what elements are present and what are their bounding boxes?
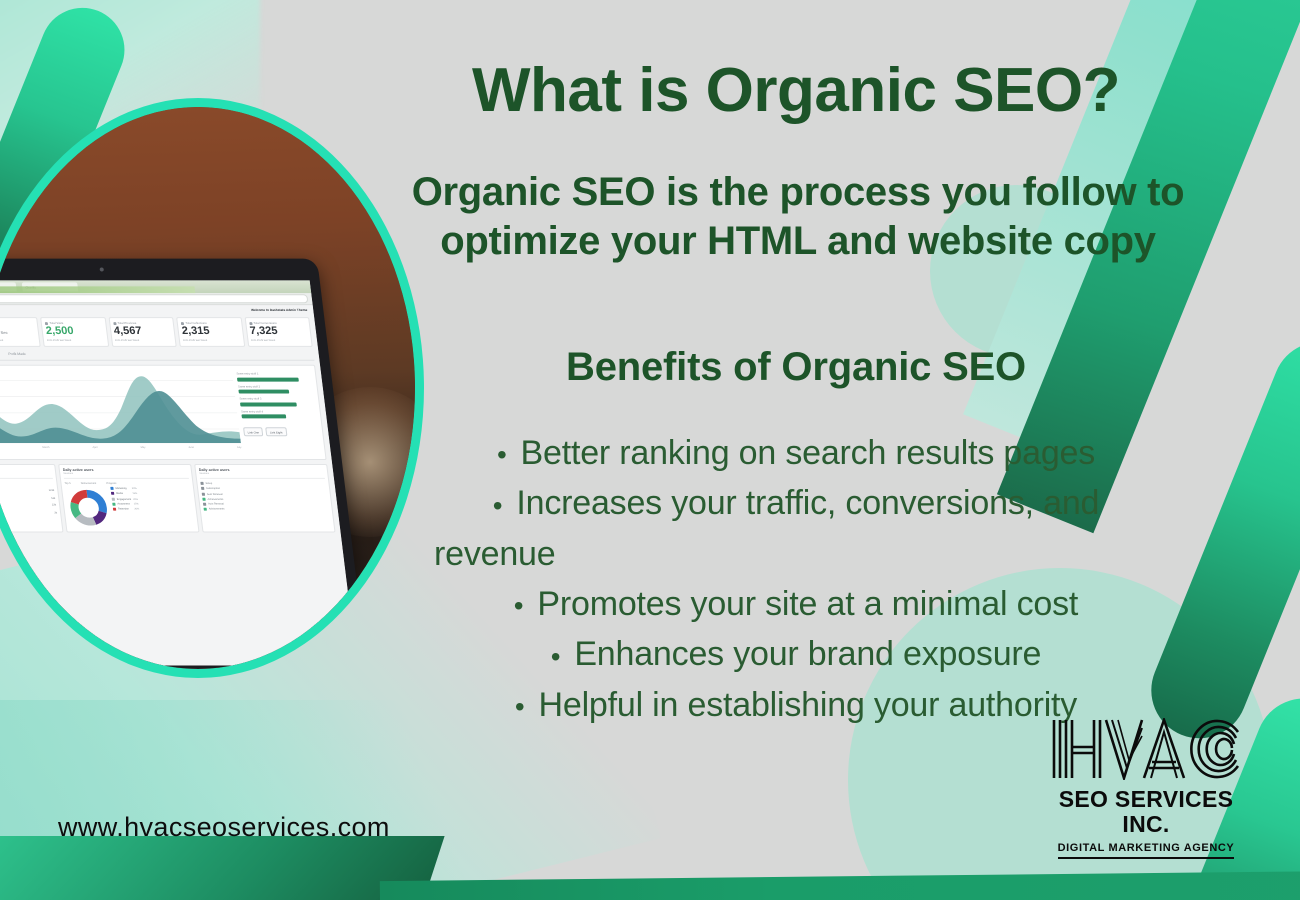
brand-logo[interactable]: SEO SERVICES INC. DIGITAL MARKETING AGEN… [1048,718,1244,859]
usage-value: 123k [41,489,54,492]
list-item: •Increases your traffic, conversions, an… [372,478,1220,528]
bullet-icon: • [493,490,503,521]
list-item-label: Helpful in establishing your authority [539,686,1078,724]
chart-link-buttons: Link One Link Eight [243,427,319,436]
donut-legend-row: Retention 20% [113,508,140,511]
kpi-card: Total Visits 2,500 10% Profit last Week [40,317,109,346]
kpi-card: Total Collections 2,315 10% Profit last … [176,317,245,346]
legend-label: Awareness [117,502,130,505]
legend-label: Marketing [115,487,126,490]
kpi-value: 7,325 [249,326,307,337]
chart-plot-area [0,370,241,445]
daily-active-users-card: Daily active users Sessions App Usage ac… [0,464,64,532]
donut-chart-wrap: Marketing 30% Media 15% [65,487,195,529]
laptop: Marketing Dashboard Marketing Dashboard … [0,259,368,669]
legend-label: Some entry stuff 1 [236,373,311,376]
x-tick: July [237,446,243,455]
divider [200,478,325,479]
legend-percent: 15% [132,492,137,495]
usage-bar-track [0,510,42,515]
achievement-icon [202,497,205,500]
legend-swatch [111,492,114,495]
page-subtitle: Organic SEO is the process you follow to… [380,168,1216,266]
bullet-icon: • [551,641,561,672]
list-item-label: Increases your traffic, conversions, and [516,484,1099,522]
kpi-card: Total Previews 4,567 10% Profit last Wee… [108,317,177,346]
app-usage-title: App Usage across versions [0,482,54,486]
area-chart-card: 100 90 80 70 60 50 40 30 20 10 [0,365,327,460]
x-tick: May [140,446,146,455]
kpi-sub: 10% Profit last Week [251,339,308,342]
legend-row: Some entry stuff 3 [239,398,315,406]
section-heading-benefits: Benefits of Organic SEO [372,345,1220,390]
account-menu-item[interactable]: Auto Renewal [203,503,328,506]
bullet-icon: • [514,590,524,621]
kpi-card: Average Time 1.51Sec 10% Profit last Wee… [0,317,41,346]
kpi-row: Total Users 2500 10% Profit last Week Av… [0,317,313,346]
usage-value: 3k [44,511,57,514]
legend-swatch [112,497,115,500]
kpi-sub: 10% Profit last Week [115,339,172,342]
logo-company-name: SEO SERVICES INC. [1048,787,1244,838]
browser-url-field[interactable] [0,294,308,303]
dashboard-welcome-text: Welcome to Dashstats Admin Theme [251,308,308,312]
dashboard-tab-profit-made[interactable]: Profit Made [8,351,26,358]
list-item: •Better ranking on search results pages [372,428,1220,478]
kpi-unit: Sec [0,330,8,335]
chart-legend: Some entry stuff 1 Some entry stuff 2 So… [236,370,321,455]
laptop-photo-inner: Marketing Dashboard Marketing Dashboard … [0,107,415,669]
kpi-label-wrap: Average Time [0,321,34,325]
card-subtitle: Sessions [199,472,324,475]
menu-label: Setup [205,482,212,485]
account-menu-item[interactable]: Achievements [204,508,329,511]
legend-progress-bar [241,415,286,419]
usage-row: 9.1.0.0 123k [0,488,55,493]
daily-active-users-card: Daily active users Sessions Setup [194,464,335,532]
legend-label: Retention [118,508,129,511]
legend-row: Some entry stuff 1 [236,373,312,381]
browser-tab-highlight [0,286,195,293]
legend-progress-bar [240,402,297,406]
account-menu-item[interactable]: Auto Renewal [202,492,327,495]
donut-header: Disbursement [81,482,97,485]
gear-icon [200,482,203,485]
kpi-sub: 10% Profit last Week [183,339,240,342]
browser-tab-bar: Marketing Dashboard Marketing Dashboard … [0,280,311,293]
donut-header: Top 5 [64,482,71,485]
account-menu-item[interactable]: Achievements [202,497,327,500]
renewal-icon [203,503,206,506]
kpi-sub: 10% Profit last Week [0,339,36,342]
list-item: •Enhances your brand exposure [372,629,1220,679]
usage-bar-track [0,503,41,508]
infographic-canvas: Marketing Dashboard Marketing Dashboard … [0,0,1300,900]
donut-table-headers: Top 5 Disbursement Progress [64,482,189,485]
legend-percent: 20% [133,497,138,500]
x-tick: April [92,446,98,455]
account-menu: Setup Subscription Auto Renewal [200,482,328,511]
x-tick: March [42,446,50,455]
menu-label: Achievements [207,497,223,500]
area-chart: 100 90 80 70 60 50 40 30 20 10 [0,370,242,455]
kpi-value: 4,567 [113,326,171,337]
donut-header: Progress [106,482,116,485]
donut-legend-row: Awareness 15% [112,502,139,505]
dashboard-bottom-cards: Daily active users Sessions App Usage ac… [0,464,336,532]
kpi-sub: 10% Profit last Week [47,339,104,342]
legend-label: Media [116,492,123,495]
donut-chart [65,487,112,529]
hvac-logo-icon [1048,718,1248,780]
legend-label: Some entry stuff 4 [241,410,316,413]
x-tick: June [188,446,195,455]
bullet-icon: • [497,439,507,470]
card-subtitle: Sessions [0,472,52,475]
website-url[interactable]: www.hvacseoservices.com [58,812,390,843]
achievement-icon [204,508,207,511]
donut-legend-row: Engagement 20% [112,497,139,500]
kpi-card: Total Conversions 7,325 10% Profit last … [244,317,313,346]
daily-active-users-card: Daily active users Sessions Top 5 Disbur… [58,464,199,532]
list-item-label: Promotes your site at a minimal cost [537,585,1078,623]
usage-bar-track [0,488,40,493]
legend-percent: 15% [134,502,139,505]
laptop-photo-circle: Marketing Dashboard Marketing Dashboard … [0,98,424,678]
legend-row: Some entry stuff 4 [241,410,317,418]
menu-label: Auto Renewal [207,492,223,495]
analytics-dashboard: Welcome to Dashstats Admin Theme Total U… [0,305,357,665]
laptop-screen: Marketing Dashboard Marketing Dashboard … [0,280,357,665]
renewal-icon [202,492,205,495]
kpi-value: 2,315 [181,326,239,337]
donut-legend-row: Media 15% [111,492,138,495]
link-eight-button[interactable]: Link Eight [265,427,287,436]
laptop-webcam-icon [99,267,104,271]
kpi-value: 1.51Sec [0,326,36,337]
legend-percent: 30% [132,487,137,490]
menu-label: Auto Renewal [208,503,224,506]
usage-value: 53k [42,496,55,499]
usage-row: 9.1.0.1 53k [0,495,56,500]
usage-row: 9.1.0.6 3k [0,510,57,515]
logo-tagline: DIGITAL MARKETING AGENCY [1058,842,1235,859]
donut-legend: Marketing 30% Media 15% [110,487,139,511]
donut-legend-row: Marketing 30% [110,487,137,490]
list-item-label: Better ranking on search results pages [521,434,1096,472]
legend-swatch [113,508,116,511]
legend-progress-bar [238,390,289,394]
legend-progress-bar [237,377,299,381]
usage-bar-track [0,495,40,500]
list-item-label: Enhances your brand exposure [574,635,1041,673]
dashboard-tabs: Network Activities User Signups Converte… [0,351,314,361]
list-item-continuation: revenue [372,529,1220,579]
legend-percent: 20% [134,508,139,511]
account-menu-item[interactable]: Setup [200,482,325,485]
bullet-icon: • [515,691,525,722]
menu-label: Achievements [209,508,225,511]
link-one-button[interactable]: Link One [243,427,263,436]
card-subtitle: Sessions [63,472,188,475]
kpi-value: 2,500 [45,326,103,337]
menu-label: Subscription [206,487,220,490]
divider [0,478,53,479]
legend-swatch [112,502,115,505]
account-menu-item[interactable]: Subscription [201,487,326,490]
divider [64,478,189,479]
legend-label: Some entry stuff 3 [239,398,314,401]
usage-value: 23k [43,504,56,507]
chart-x-axis: January February March April May June Ju… [0,446,242,455]
page-title: What is Organic SEO? [372,58,1220,123]
legend-row: Some entry stuff 2 [238,385,314,393]
list-item: •Promotes your site at a minimal cost [372,579,1220,629]
usage-row: 9.1.0.4 23k [0,503,56,508]
benefits-list: •Better ranking on search results pages … [372,428,1220,730]
subscription-icon [201,487,204,490]
legend-swatch [110,487,113,490]
legend-label: Some entry stuff 2 [238,385,313,388]
browser-address-bar[interactable]: dashboard/index [0,293,313,305]
legend-label: Engagement [117,497,132,500]
